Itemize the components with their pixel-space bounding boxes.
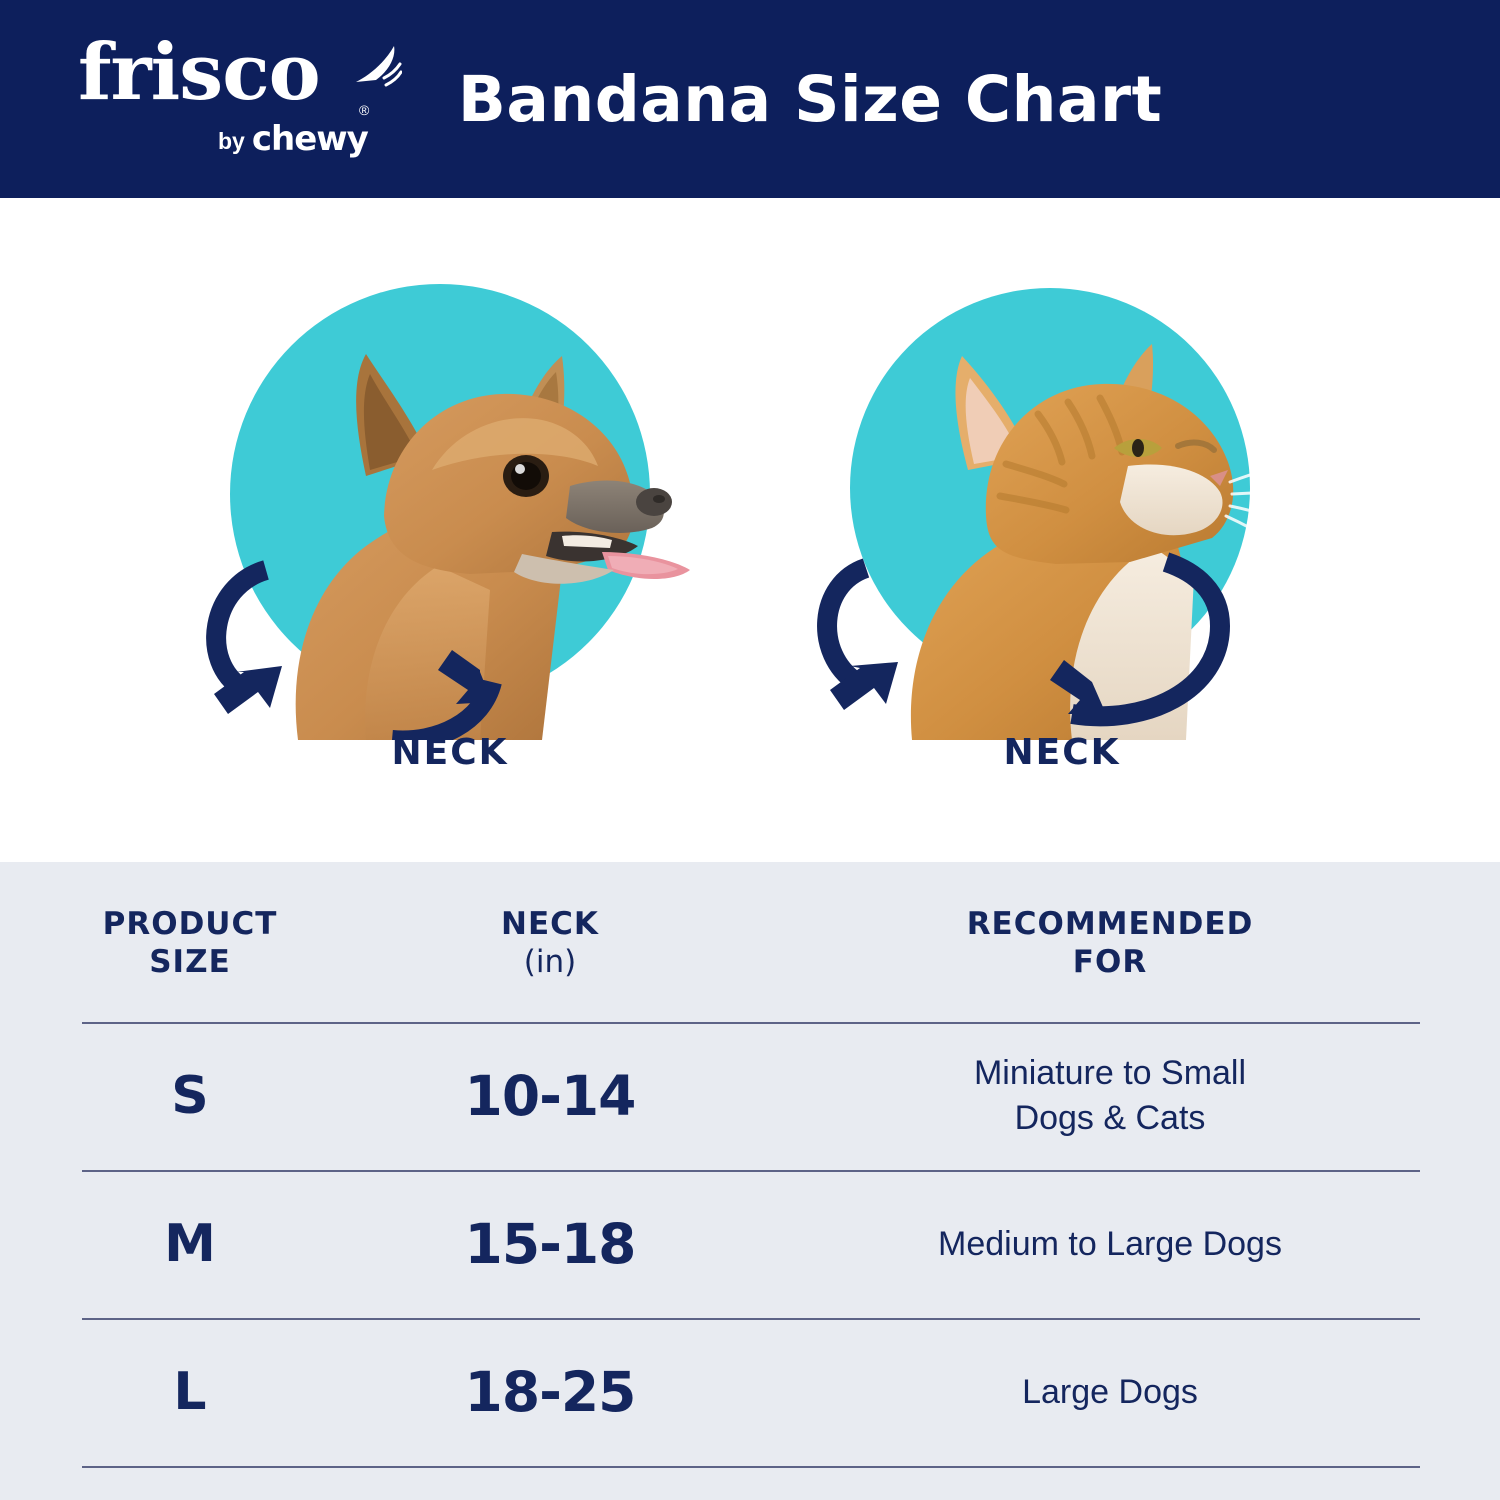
- column-header-recommended-for-line1: RECOMMENDED: [967, 906, 1254, 942]
- dog-neck-label: NECK: [170, 732, 730, 773]
- size-table: PRODUCT SIZE NECK (in) RECOMMENDED FOR S: [0, 862, 1500, 1466]
- brand-parent-lockup: by chewy: [218, 122, 368, 156]
- row-recommended-m: Medium to Large Dogs: [720, 1170, 1500, 1318]
- row-neck-l: 18-25: [380, 1318, 720, 1466]
- table-row-divider: [82, 1022, 1420, 1024]
- dog-photo-shape: [296, 354, 690, 740]
- row-size-l: L: [0, 1318, 380, 1466]
- table-row: M 15-18 Medium to Large Dogs: [0, 1170, 1500, 1318]
- size-table-body: S 10-14 Miniature to Small Dogs & Cats M…: [0, 1022, 1500, 1466]
- brand-by-label: by: [218, 130, 245, 156]
- row-size-m: M: [0, 1170, 380, 1318]
- size-table-section: PRODUCT SIZE NECK (in) RECOMMENDED FOR S: [0, 862, 1500, 1500]
- page-header: frisco ® by chewy Bandana Size Chart: [0, 0, 1500, 198]
- size-chart-page: frisco ® by chewy Bandana Size Chart: [0, 0, 1500, 1500]
- column-header-product-size-line2: SIZE: [0, 944, 380, 982]
- row-neck-m: 15-18: [380, 1170, 720, 1318]
- row-neck-s: 10-14: [380, 1022, 720, 1170]
- row-recommended-s: Miniature to Small Dogs & Cats: [720, 1022, 1500, 1170]
- table-header-row: PRODUCT SIZE NECK (in) RECOMMENDED FOR: [0, 862, 1500, 1022]
- illustration-band: NECK: [0, 198, 1500, 862]
- cat-neck-label: NECK: [782, 732, 1342, 773]
- row-size-s: S: [0, 1022, 380, 1170]
- cat-photo-shape: [911, 344, 1320, 740]
- column-header-neck-unit: (in): [380, 944, 720, 982]
- cat-illustration: [800, 270, 1360, 740]
- table-row: S 10-14 Miniature to Small Dogs & Cats: [0, 1022, 1500, 1170]
- row-recommended-l: Large Dogs: [720, 1318, 1500, 1466]
- column-header-product-size-line1: PRODUCT: [103, 906, 278, 942]
- dog-illustration: [170, 270, 730, 740]
- table-row-divider: [82, 1318, 1420, 1320]
- column-header-product-size: PRODUCT SIZE: [0, 862, 380, 1022]
- column-header-recommended-for-line2: FOR: [720, 944, 1500, 982]
- dog-measurement-figure: NECK: [170, 270, 730, 830]
- column-header-neck-line1: NECK: [501, 906, 599, 942]
- table-row-divider: [82, 1466, 1420, 1468]
- row-recommended-s-line1: Miniature to Small: [974, 1054, 1246, 1092]
- column-header-neck: NECK (in): [380, 862, 720, 1022]
- column-header-recommended-for: RECOMMENDED FOR: [720, 862, 1500, 1022]
- frisco-logo: frisco ® by chewy: [78, 34, 378, 164]
- brand-parent-wordmark: chewy: [252, 122, 368, 156]
- logo-swish-icon: [350, 42, 402, 90]
- cat-measurement-figure: NECK: [800, 270, 1360, 830]
- table-row-divider: [82, 1170, 1420, 1172]
- row-recommended-s-line2: Dogs & Cats: [1015, 1099, 1206, 1137]
- table-row: L 18-25 Large Dogs: [0, 1318, 1500, 1466]
- brand-wordmark: frisco: [78, 34, 320, 112]
- size-table-head: PRODUCT SIZE NECK (in) RECOMMENDED FOR: [0, 862, 1500, 1022]
- registered-trademark-icon: ®: [359, 102, 369, 118]
